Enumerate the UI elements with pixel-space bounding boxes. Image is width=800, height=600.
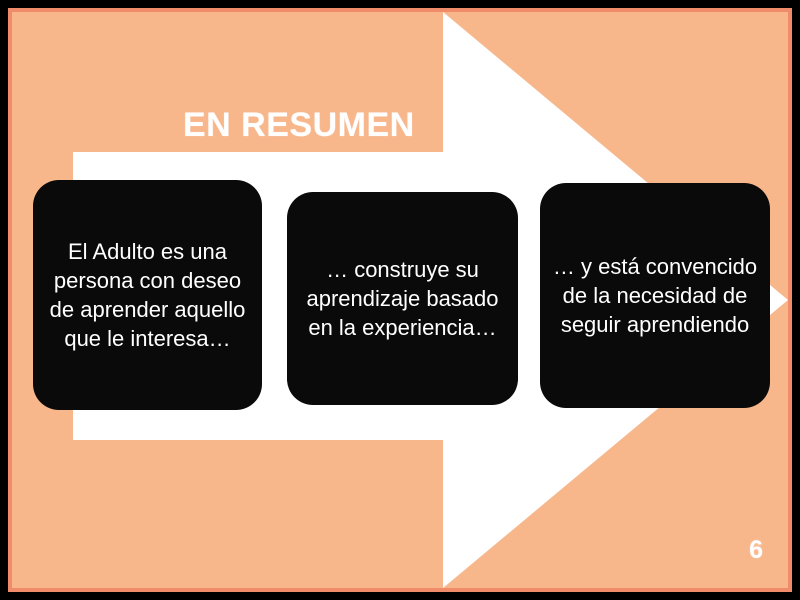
callout-box-3[interactable]: … y está convencido de la necesidad de s… bbox=[540, 183, 770, 408]
presentation-slide: EN RESUMEN El Adulto es una persona con … bbox=[0, 0, 800, 600]
page-title: EN RESUMEN bbox=[183, 106, 415, 145]
callout-box-2-text: … construye su aprendizaje basado en la … bbox=[297, 255, 508, 343]
callout-box-3-text: … y está convencido de la necesidad de s… bbox=[550, 252, 760, 340]
callout-box-1-text: El Adulto es una persona con deseo de ap… bbox=[43, 237, 252, 354]
callout-box-2[interactable]: … construye su aprendizaje basado en la … bbox=[287, 192, 518, 405]
slide-canvas: EN RESUMEN El Adulto es una persona con … bbox=[12, 12, 788, 588]
callout-box-1[interactable]: El Adulto es una persona con deseo de ap… bbox=[33, 180, 262, 410]
page-number: 6 bbox=[749, 536, 763, 565]
